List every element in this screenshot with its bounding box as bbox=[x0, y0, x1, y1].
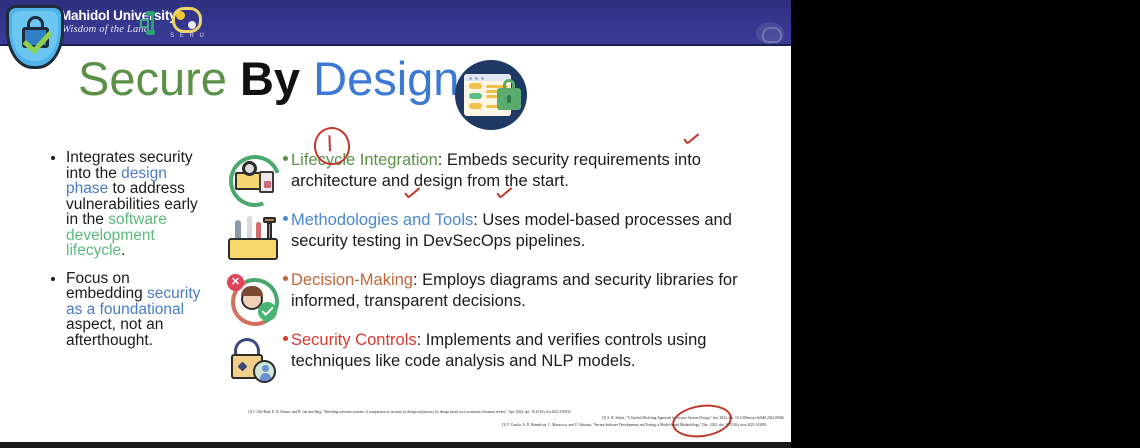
page-title: Secure By Design bbox=[78, 55, 459, 102]
banner-bottom-edge bbox=[0, 44, 791, 46]
bullet-keyword: Methodologies and Tools bbox=[291, 211, 473, 229]
meeting-screen-share-view: Mahidol University Wisdom of the Land S … bbox=[0, 0, 1140, 448]
main-bullet-list: Lifecycle Integration: Embeds security r… bbox=[225, 150, 765, 390]
molecule-icon bbox=[140, 9, 166, 37]
slide-bottom-edge bbox=[0, 442, 791, 448]
reference-3: [3] V. Casola, A. D. Benedictis, C. Mazz… bbox=[240, 422, 785, 428]
list-item: Security Controls: Implements and verifi… bbox=[225, 330, 765, 382]
left-b2-s3: aspect, not an afterthought. bbox=[66, 316, 163, 349]
title-part-by: By bbox=[240, 52, 313, 105]
seru-logo-label: S E R U bbox=[170, 33, 206, 39]
list-item: Integrates security into the design phas… bbox=[66, 150, 210, 259]
seru-logo-icon bbox=[170, 6, 206, 36]
watermark-logo-icon bbox=[756, 22, 784, 44]
left-b2-s1: Focus on embedding bbox=[66, 270, 147, 303]
bullet-text: Lifecycle Integration: Embeds security r… bbox=[291, 150, 765, 192]
presentation-slide: Mahidol University Wisdom of the Land S … bbox=[0, 0, 791, 448]
list-item: Lifecycle Integration: Embeds security r… bbox=[225, 150, 765, 202]
lifecycle-gear-hourglass-icon bbox=[225, 152, 283, 204]
video-panel: SERU bbox=[791, 0, 1140, 448]
title-part-secure: Secure bbox=[78, 52, 240, 105]
slide-banner bbox=[0, 0, 791, 46]
list-item: Focus on embedding security as a foundat… bbox=[66, 271, 210, 349]
left-b1-s5: . bbox=[121, 242, 125, 259]
bullet-text: Decision-Making: Employs diagrams and se… bbox=[291, 270, 765, 312]
organization-tagline: Wisdom of the Land bbox=[62, 24, 149, 35]
toolbox-tools-icon bbox=[225, 212, 283, 264]
bullet-text: Methodologies and Tools: Uses model-base… bbox=[291, 210, 765, 252]
secure-dashboard-lock-icon bbox=[455, 60, 527, 130]
left-bullets: Integrates security into the design phas… bbox=[50, 150, 210, 348]
shield-lock-check-icon bbox=[2, 3, 68, 71]
bullet-keyword: Lifecycle Integration bbox=[291, 151, 438, 169]
list-item: Methodologies and Tools: Uses model-base… bbox=[225, 210, 765, 262]
bullet-keyword: Security Controls bbox=[291, 331, 417, 349]
references-block: [1] C. Del-Real, E. D. Busser, and B. va… bbox=[240, 409, 785, 428]
bullet-dot bbox=[283, 156, 288, 161]
bullet-text: Security Controls: Implements and verifi… bbox=[291, 330, 765, 372]
title-part-design: Design bbox=[313, 52, 459, 105]
left-bullet-list: Integrates security into the design phas… bbox=[50, 150, 210, 360]
bullet-dot bbox=[283, 276, 288, 281]
list-item: ✕ Decision-Making: Employs diagrams and … bbox=[225, 270, 765, 322]
bullet-keyword: Decision-Making bbox=[291, 271, 413, 289]
decision-person-check-cross-icon: ✕ bbox=[225, 272, 283, 324]
check-mark-annotation bbox=[684, 136, 700, 145]
bullet-dot bbox=[283, 336, 288, 341]
padlock-user-icon bbox=[225, 332, 283, 384]
bullet-dot bbox=[283, 216, 288, 221]
